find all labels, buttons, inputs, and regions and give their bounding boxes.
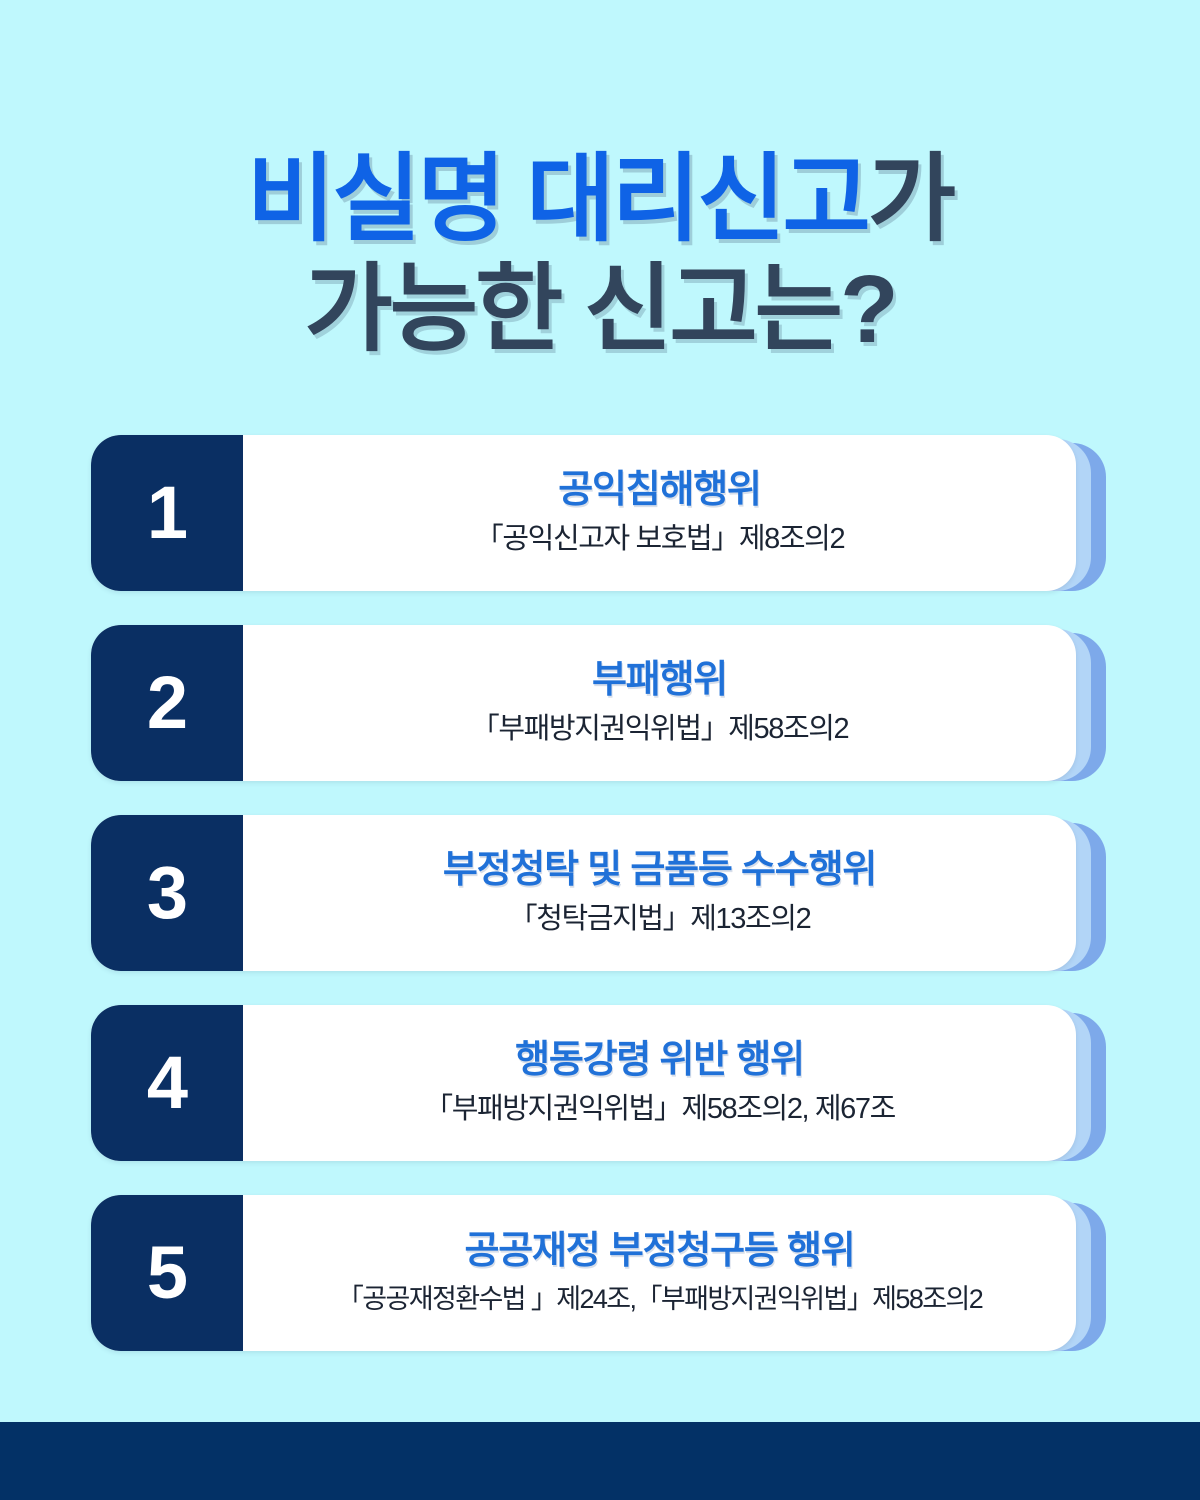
list-item[interactable]: 4 행동강령 위반 행위 「부패방지권익위법」제58조의2, 제67조 [91, 1005, 1109, 1161]
list-item[interactable]: 5 공공재정 부정청구등 행위 「공공재정환수법 」제24조,「부패방지권익위법… [91, 1195, 1109, 1351]
card-face[interactable]: 2 부패행위 「부패방지권익위법」제58조의2 [91, 625, 1076, 781]
card-number-badge: 2 [91, 625, 243, 781]
card-body: 부패행위 「부패방지권익위법」제58조의2 [243, 625, 1076, 781]
card-body: 공익침해행위 「공익신고자 보호법」제8조의2 [243, 435, 1076, 591]
card-number-badge: 1 [91, 435, 243, 591]
card-subtitle: 「공익신고자 보호법」제8조의2 [475, 522, 844, 557]
card-title: 부패행위 [592, 659, 727, 703]
card-subtitle: 「부패방지권익위법」제58조의2, 제67조 [424, 1092, 895, 1127]
card-body: 공공재정 부정청구등 행위 「공공재정환수법 」제24조,「부패방지권익위법」제… [243, 1195, 1076, 1351]
card-number: 2 [147, 666, 187, 740]
card-face[interactable]: 3 부정청탁 및 금품등 수수행위 「청탁금지법」제13조의2 [91, 815, 1076, 971]
card-number-badge: 4 [91, 1005, 243, 1161]
title-line-1-tail: 가 [868, 146, 953, 253]
card-title: 부정청탁 및 금품등 수수행위 [443, 849, 876, 893]
card-number-badge: 3 [91, 815, 243, 971]
card-number: 5 [147, 1236, 187, 1310]
card-face[interactable]: 1 공익침해행위 「공익신고자 보호법」제8조의2 [91, 435, 1076, 591]
card-number: 3 [147, 856, 187, 930]
reportable-acts-list: 1 공익침해행위 「공익신고자 보호법」제8조의2 2 부패행위 「부패방지권익… [0, 435, 1200, 1385]
title-line-1-highlight: 비실명 대리신고 [247, 146, 868, 253]
title-line-1: 비실명 대리신고가 [0, 152, 1200, 248]
card-title: 공공재정 부정청구등 행위 [464, 1230, 854, 1274]
footer-bar [0, 1422, 1200, 1500]
card-subtitle: 「부패방지권익위법」제58조의2 [471, 712, 848, 747]
card-number: 4 [147, 1046, 187, 1120]
card-subtitle: 「공공재정환수법 」제24조,「부패방지권익위법」제58조의2 [337, 1283, 982, 1315]
title-line-2: 가능한 신고는? [0, 262, 1200, 358]
list-item[interactable]: 1 공익침해행위 「공익신고자 보호법」제8조의2 [91, 435, 1109, 591]
card-subtitle: 「청탁금지법」제13조의2 [509, 902, 811, 937]
card-number: 1 [147, 476, 187, 550]
page-title: 비실명 대리신고가 가능한 신고는? [0, 152, 1200, 358]
card-body: 행동강령 위반 행위 「부패방지권익위법」제58조의2, 제67조 [243, 1005, 1076, 1161]
card-face[interactable]: 5 공공재정 부정청구등 행위 「공공재정환수법 」제24조,「부패방지권익위법… [91, 1195, 1076, 1351]
list-item[interactable]: 2 부패행위 「부패방지권익위법」제58조의2 [91, 625, 1109, 781]
card-body: 부정청탁 및 금품등 수수행위 「청탁금지법」제13조의2 [243, 815, 1076, 971]
card-face[interactable]: 4 행동강령 위반 행위 「부패방지권익위법」제58조의2, 제67조 [91, 1005, 1076, 1161]
list-item[interactable]: 3 부정청탁 및 금품등 수수행위 「청탁금지법」제13조의2 [91, 815, 1109, 971]
card-title: 행동강령 위반 행위 [515, 1039, 804, 1083]
card-title: 공익침해행위 [558, 469, 761, 513]
card-number-badge: 5 [91, 1195, 243, 1351]
